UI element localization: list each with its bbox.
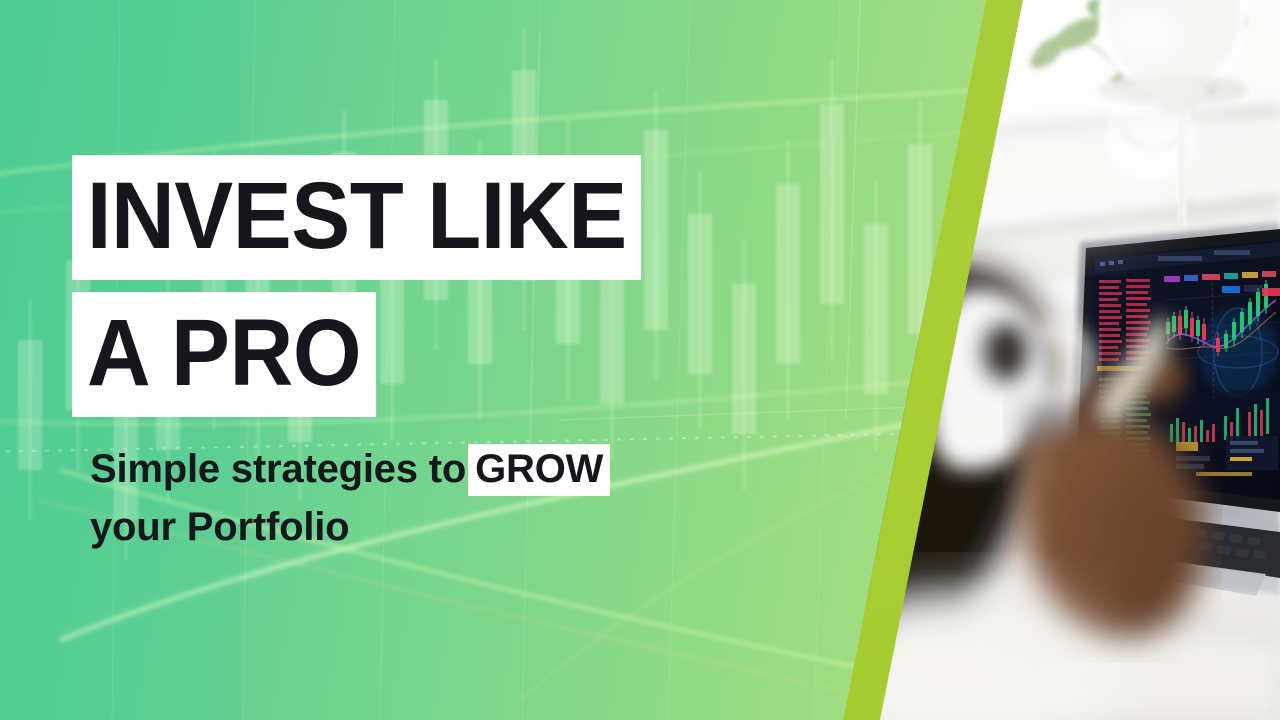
subheadline-text-before: Simple strategies to — [90, 447, 466, 491]
subheadline-line-2: your Portfolio — [90, 500, 610, 554]
subheadline-block: Simple strategies toGROW your Portfolio — [90, 442, 610, 554]
headline-line-2: A PRO — [72, 292, 376, 417]
headline-line-1: INVEST LIKE — [72, 155, 642, 280]
headline-block: INVEST LIKE A PRO — [72, 155, 684, 417]
promo-banner: INVEST LIKE A PRO Simple strategies toGR… — [0, 0, 1280, 720]
subheadline-highlight-grow: GROW — [468, 444, 610, 496]
